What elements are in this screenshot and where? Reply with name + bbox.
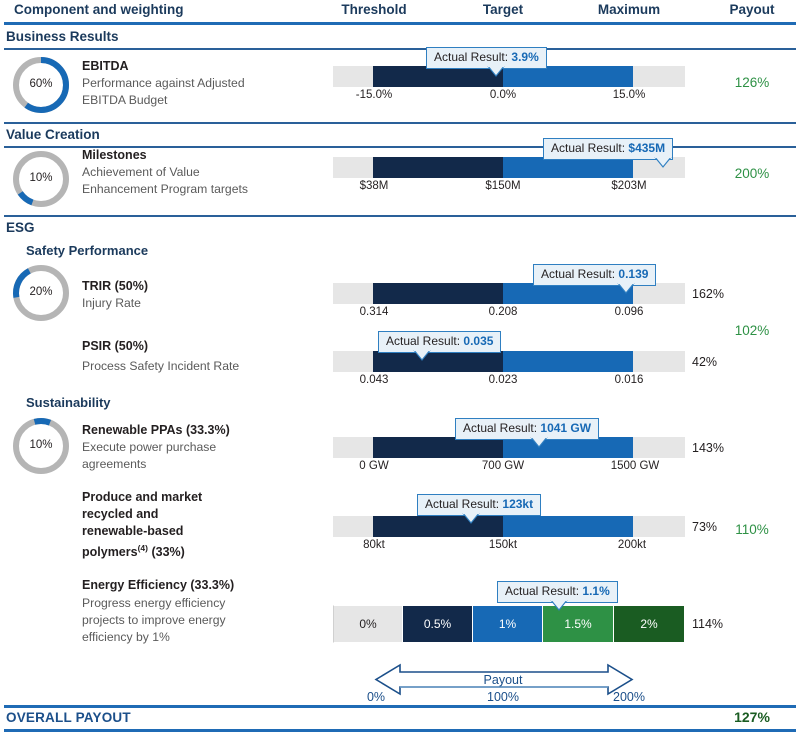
tick-maximum-milestones: $203M bbox=[611, 180, 646, 192]
payout-scale-label-0: 0% bbox=[367, 690, 385, 704]
tick-threshold-trir: 0.314 bbox=[360, 306, 389, 318]
scale-bar-milestones bbox=[333, 157, 685, 178]
column-header-payout: Payout bbox=[729, 2, 774, 17]
payout-value-energy-efficiency: 114% bbox=[692, 617, 723, 631]
section-divider-business-results bbox=[4, 48, 796, 50]
callout-label: Actual Result: bbox=[434, 50, 508, 64]
callout-box: Actual Result: 3.9% bbox=[426, 47, 547, 69]
payout-scale-title: Payout bbox=[484, 673, 523, 687]
column-header-maximum: Maximum bbox=[598, 2, 660, 17]
tick-threshold-polymers: 80kt bbox=[363, 539, 385, 551]
metric-name-polymers-weight: (33%) bbox=[148, 545, 185, 559]
tick-target-psir: 0.023 bbox=[489, 374, 518, 386]
metric-desc-milestones: Achievement of Value Enhancement Program… bbox=[82, 164, 248, 198]
callout-value: 123kt bbox=[502, 497, 533, 511]
group-title-safety-performance: Safety Performance bbox=[26, 243, 148, 258]
bar-segment-threshold-to-target bbox=[373, 283, 503, 304]
payout-scale-label-200: 200% bbox=[613, 690, 645, 704]
callout-label: Actual Result: bbox=[463, 421, 537, 435]
overall-divider-top bbox=[4, 705, 796, 708]
weighting-donut-ebitda: 60% bbox=[10, 54, 72, 116]
metric-name-energy-efficiency: Energy Efficiency (33.3%) bbox=[82, 578, 234, 592]
tick-maximum-trir: 0.096 bbox=[615, 306, 644, 318]
callout-box: Actual Result: 1041 GW bbox=[455, 418, 599, 440]
overall-payout-value: 127% bbox=[734, 709, 770, 725]
section-title-value-creation: Value Creation bbox=[6, 127, 100, 142]
callout-value: 1.1% bbox=[582, 584, 609, 598]
callout-value: $435M bbox=[628, 141, 665, 155]
weighting-label-safety: 20% bbox=[10, 286, 72, 298]
section-title-esg: ESG bbox=[6, 220, 35, 235]
bar-segment-target-to-maximum bbox=[503, 66, 633, 87]
callout-actual-result-trir: Actual Result: 0.139 bbox=[533, 264, 656, 286]
callout-box: Actual Result: 0.035 bbox=[378, 331, 501, 353]
scale-bar-psir bbox=[333, 351, 685, 372]
section-divider-esg-top bbox=[4, 215, 796, 217]
overall-divider-bottom bbox=[4, 729, 796, 732]
callout-tail-icon bbox=[655, 157, 671, 168]
scale-bar-polymers bbox=[333, 516, 685, 537]
column-header-target: Target bbox=[483, 2, 523, 17]
callout-label: Actual Result: bbox=[551, 141, 625, 155]
scale-bar-energy-efficiency: 0% 0.5% 1% 1.5% 2% bbox=[333, 605, 685, 643]
metric-desc-trir: Injury Rate bbox=[82, 295, 141, 312]
segment-2: 1% bbox=[473, 605, 543, 643]
tick-target-renewable-ppas: 700 GW bbox=[482, 460, 524, 472]
callout-label: Actual Result: bbox=[386, 334, 460, 348]
metric-desc-energy-efficiency: Progress energy efficiency projects to i… bbox=[82, 595, 226, 646]
callout-actual-result-renewable-ppas: Actual Result: 1041 GW bbox=[455, 418, 599, 440]
bar-segment-target-to-maximum bbox=[503, 516, 633, 537]
metric-desc-ebitda: Performance against Adjusted EBITDA Budg… bbox=[82, 75, 245, 109]
metric-name-polymers-footnote: (4) bbox=[138, 543, 148, 553]
tick-maximum-psir: 0.016 bbox=[615, 374, 644, 386]
tick-threshold-ebitda: -15.0% bbox=[356, 89, 392, 101]
metric-name-trir: TRIR (50%) bbox=[82, 279, 148, 293]
tick-maximum-ebitda: 15.0% bbox=[613, 89, 646, 101]
callout-actual-result-ebitda: Actual Result: 3.9% bbox=[426, 47, 547, 69]
callout-tail-icon bbox=[618, 283, 634, 294]
callout-actual-result-psir: Actual Result: 0.035 bbox=[378, 331, 501, 353]
callout-label: Actual Result: bbox=[425, 497, 499, 511]
callout-actual-result-energy-efficiency: Actual Result: 1.1% bbox=[497, 581, 618, 603]
payout-scale-label-100: 100% bbox=[487, 690, 519, 704]
bar-segment-target-to-maximum bbox=[503, 351, 633, 372]
weighting-donut-milestones: 10% bbox=[10, 148, 72, 210]
column-header-threshold: Threshold bbox=[341, 2, 406, 17]
tick-threshold-psir: 0.043 bbox=[360, 374, 389, 386]
tick-maximum-polymers: 200kt bbox=[618, 539, 646, 551]
payout-value-safety-group: 102% bbox=[735, 323, 770, 338]
tick-threshold-milestones: $38M bbox=[360, 180, 389, 192]
weighting-label-sustainability: 10% bbox=[10, 439, 72, 451]
callout-label: Actual Result: bbox=[505, 584, 579, 598]
callout-box: Actual Result: $435M bbox=[543, 138, 673, 160]
header-divider bbox=[4, 22, 796, 25]
callout-label: Actual Result: bbox=[541, 267, 615, 281]
bar-segment-target-to-maximum bbox=[503, 437, 633, 458]
payout-value-trir: 162% bbox=[692, 287, 724, 301]
metric-desc-renewable-ppas: Execute power purchase agreements bbox=[82, 439, 216, 473]
segment-4: 2% bbox=[614, 605, 685, 643]
weighting-donut-sustainability: 10% bbox=[10, 415, 72, 477]
payout-value-milestones: 200% bbox=[735, 166, 770, 181]
scorecard-page: Component and weighting Threshold Target… bbox=[0, 0, 800, 734]
bar-segment-threshold-to-target bbox=[373, 157, 503, 178]
segment-0: 0% bbox=[333, 605, 403, 643]
metric-name-polymers: Produce and market recycled and renewabl… bbox=[82, 489, 202, 561]
callout-value: 3.9% bbox=[511, 50, 538, 64]
callout-value: 0.035 bbox=[463, 334, 493, 348]
metric-name-renewable-ppas: Renewable PPAs (33.3%) bbox=[82, 423, 230, 437]
weighting-label-milestones: 10% bbox=[10, 172, 72, 184]
bar-segment-threshold-to-target bbox=[373, 516, 503, 537]
tick-target-polymers: 150kt bbox=[489, 539, 517, 551]
bar-segment-target-to-maximum bbox=[503, 157, 633, 178]
callout-value: 1041 GW bbox=[540, 421, 591, 435]
payout-value-renewable-ppas: 143% bbox=[692, 441, 724, 455]
bar-segment-threshold-to-target bbox=[373, 437, 503, 458]
callout-value: 0.139 bbox=[618, 267, 648, 281]
payout-value-sustainability-group: 110% bbox=[735, 522, 769, 537]
section-title-business-results: Business Results bbox=[6, 29, 119, 44]
tick-target-milestones: $150M bbox=[485, 180, 520, 192]
tick-target-trir: 0.208 bbox=[489, 306, 518, 318]
scale-bar-ebitda bbox=[333, 66, 685, 87]
payout-value-psir: 42% bbox=[692, 355, 717, 369]
callout-actual-result-polymers: Actual Result: 123kt bbox=[417, 494, 541, 516]
overall-payout-label: OVERALL PAYOUT bbox=[6, 710, 131, 725]
callout-tail-icon bbox=[551, 600, 567, 611]
bar-segment-threshold-to-target bbox=[373, 351, 503, 372]
tick-target-ebitda: 0.0% bbox=[490, 89, 516, 101]
group-title-sustainability: Sustainability bbox=[26, 395, 111, 410]
section-divider-value-creation-top bbox=[4, 122, 796, 124]
tick-maximum-renewable-ppas: 1500 GW bbox=[611, 460, 660, 472]
callout-tail-icon bbox=[463, 513, 479, 524]
callout-tail-icon bbox=[531, 437, 547, 448]
bar-segment-threshold-to-target bbox=[373, 66, 503, 87]
metric-name-milestones: Milestones bbox=[82, 148, 147, 162]
column-header-component: Component and weighting bbox=[14, 2, 183, 17]
tick-threshold-renewable-ppas: 0 GW bbox=[359, 460, 388, 472]
callout-box: Actual Result: 0.139 bbox=[533, 264, 656, 286]
metric-desc-psir: Process Safety Incident Rate bbox=[82, 358, 239, 375]
weighting-donut-safety: 20% bbox=[10, 262, 72, 324]
payout-value-polymers: 73% bbox=[692, 520, 717, 534]
bar-segment-target-to-maximum bbox=[503, 283, 633, 304]
segment-1: 0.5% bbox=[403, 605, 473, 643]
callout-tail-icon bbox=[488, 66, 504, 77]
metric-name-psir: PSIR (50%) bbox=[82, 339, 148, 353]
payout-value-ebitda: 126% bbox=[735, 75, 770, 90]
weighting-label-ebitda: 60% bbox=[10, 78, 72, 90]
callout-actual-result-milestones: Actual Result: $435M bbox=[543, 138, 673, 160]
scale-bar-renewable-ppas bbox=[333, 437, 685, 458]
callout-box: Actual Result: 123kt bbox=[417, 494, 541, 516]
metric-name-ebitda: EBITDA bbox=[82, 59, 129, 73]
callout-tail-icon bbox=[414, 350, 430, 361]
